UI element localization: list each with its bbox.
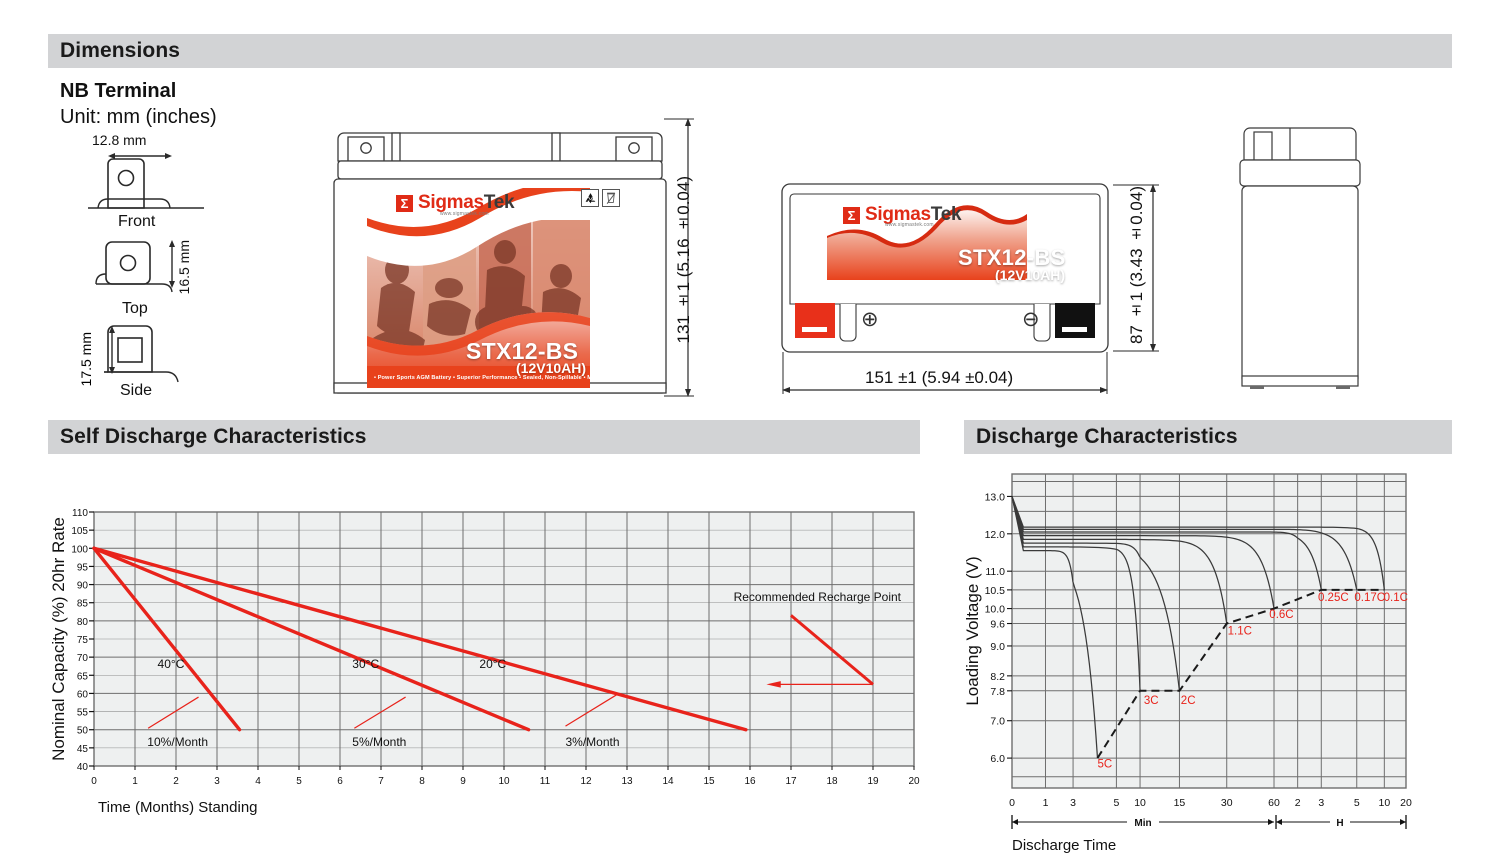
svg-text:8.2: 8.2 — [990, 671, 1005, 683]
svg-text:80: 80 — [77, 617, 89, 628]
recycle-glyph — [584, 192, 597, 205]
svg-text:Loading Voltage (V): Loading Voltage (V) — [963, 556, 982, 705]
terminal-side-view — [86, 322, 206, 388]
svg-text:10: 10 — [1134, 797, 1146, 809]
svg-text:55: 55 — [77, 708, 89, 719]
svg-text:9.0: 9.0 — [990, 641, 1005, 653]
svg-text:7.0: 7.0 — [990, 716, 1005, 728]
battery-height-label: 131 ±1 (5.16 ±0.04) — [674, 176, 694, 343]
svg-text:10%/Month: 10%/Month — [147, 735, 208, 749]
svg-text:5%/Month: 5%/Month — [352, 735, 406, 749]
svg-text:85: 85 — [77, 599, 89, 610]
svg-text:3: 3 — [1318, 797, 1324, 809]
svg-text:0: 0 — [1009, 797, 1015, 809]
svg-text:14: 14 — [662, 776, 674, 787]
svg-text:10.0: 10.0 — [985, 604, 1006, 616]
svg-text:0.17C: 0.17C — [1354, 592, 1385, 604]
brand-url-front: www.sigmastek.com — [440, 211, 489, 217]
svg-text:110: 110 — [72, 508, 88, 519]
svg-text:65: 65 — [77, 671, 89, 682]
crossed-wheelie-bin-icon — [602, 189, 620, 207]
discharge-chart: 13.012.011.010.510.09.69.08.27.87.06.05C… — [960, 460, 1460, 856]
sigma-mark-icon-side: Σ — [843, 207, 860, 224]
svg-text:60: 60 — [1268, 797, 1280, 809]
svg-text:10.5: 10.5 — [985, 585, 1006, 597]
svg-text:105: 105 — [71, 526, 88, 537]
svg-text:30: 30 — [1221, 797, 1233, 809]
svg-text:20: 20 — [908, 776, 920, 787]
svg-text:4: 4 — [255, 776, 261, 787]
terminal-height-label: 16.5 mm — [176, 240, 192, 294]
svg-text:0.1C: 0.1C — [1384, 592, 1408, 604]
terminal-height-arrow — [166, 240, 178, 288]
svg-text:70: 70 — [77, 653, 89, 664]
terminal-depth-label: 17.5 mm — [78, 332, 94, 386]
sigma-mark-icon: Σ — [396, 195, 413, 212]
wheelie-bin-glyph — [605, 192, 617, 205]
svg-text:45: 45 — [77, 744, 89, 755]
terminal-depth-arrow — [106, 326, 118, 374]
brand-name-second-side: Tek — [931, 204, 961, 226]
svg-text:11.0: 11.0 — [985, 566, 1005, 578]
svg-text:3: 3 — [1070, 797, 1076, 809]
svg-text:75: 75 — [77, 635, 89, 646]
svg-text:13.0: 13.0 — [985, 491, 1006, 503]
battery-tagline: • Power Sports AGM Battery • Superior Pe… — [374, 375, 636, 381]
svg-text:9.6: 9.6 — [990, 619, 1005, 631]
svg-text:19: 19 — [867, 776, 879, 787]
svg-text:3%/Month: 3%/Month — [566, 735, 620, 749]
svg-text:Discharge Time: Discharge Time — [1012, 837, 1116, 854]
svg-text:20: 20 — [1400, 797, 1412, 809]
svg-text:60: 60 — [77, 689, 89, 700]
negative-terminal-block — [1055, 303, 1095, 338]
self-discharge-chart: 4045505560657075808590951001051100123456… — [48, 466, 920, 826]
svg-text:H: H — [1336, 818, 1343, 829]
polarity-minus-icon: ⊖ — [1022, 309, 1040, 330]
svg-text:100: 100 — [71, 544, 88, 555]
svg-text:9: 9 — [460, 776, 466, 787]
positive-terminal-block — [795, 303, 835, 338]
svg-text:16: 16 — [744, 776, 756, 787]
svg-text:1: 1 — [132, 776, 138, 787]
svg-text:5: 5 — [1354, 797, 1360, 809]
svg-text:15: 15 — [1174, 797, 1186, 809]
battery-spec-front: (12V10AH) — [516, 360, 586, 376]
positive-terminal-bar — [802, 327, 827, 332]
section-header-dimensions: Dimensions — [48, 34, 1452, 68]
terminal-side-caption: Side — [120, 382, 152, 400]
battery-side-height-label: 87 ±1 (3.43 ±0.04) — [1127, 186, 1147, 344]
section-title-dimensions: Dimensions — [48, 39, 180, 63]
svg-text:2: 2 — [173, 776, 179, 787]
svg-text:0: 0 — [91, 776, 97, 787]
svg-text:Recommended Recharge Point: Recommended Recharge Point — [734, 590, 902, 604]
svg-text:5: 5 — [296, 776, 302, 787]
svg-text:18: 18 — [826, 776, 838, 787]
svg-text:20°C: 20°C — [479, 657, 506, 671]
svg-text:11: 11 — [540, 776, 551, 787]
battery-spec-side: (12V10AH) — [995, 267, 1065, 283]
svg-text:50: 50 — [77, 726, 89, 737]
svg-text:1: 1 — [1043, 797, 1049, 809]
battery-profile-view — [1238, 118, 1362, 396]
section-header-self-discharge: Self Discharge Characteristics — [48, 420, 920, 454]
recycle-icon — [581, 189, 599, 207]
svg-text:15: 15 — [703, 776, 715, 787]
unit-label: Unit: mm (inches) — [60, 106, 217, 129]
svg-text:3: 3 — [214, 776, 220, 787]
battery-width-label: 151 ±1 (5.94 ±0.04) — [865, 368, 1013, 388]
polarity-plus-icon: ⊕ — [861, 309, 879, 330]
svg-text:2: 2 — [1295, 797, 1301, 809]
terminal-front-caption: Front — [118, 213, 155, 231]
svg-text:6: 6 — [337, 776, 343, 787]
svg-text:10: 10 — [1378, 797, 1390, 809]
svg-text:5: 5 — [1113, 797, 1119, 809]
svg-text:Nominal Capacity (%) 20hr Rate: Nominal Capacity (%) 20hr Rate — [49, 517, 68, 761]
svg-text:7.8: 7.8 — [990, 686, 1005, 698]
section-title-self-discharge: Self Discharge Characteristics — [48, 425, 366, 449]
svg-text:95: 95 — [77, 562, 89, 573]
brand-url-side: www.sigmastek.com — [885, 222, 934, 228]
svg-text:90: 90 — [77, 581, 89, 592]
svg-text:10: 10 — [498, 776, 510, 787]
svg-text:17: 17 — [785, 776, 797, 787]
svg-text:12.0: 12.0 — [985, 529, 1006, 541]
svg-text:40: 40 — [77, 762, 89, 773]
terminal-width-label: 12.8 mm — [92, 132, 146, 148]
negative-terminal-bar — [1062, 327, 1087, 332]
svg-text:8: 8 — [419, 776, 425, 787]
svg-text:0.6C: 0.6C — [1269, 609, 1293, 621]
svg-text:2C: 2C — [1181, 695, 1196, 707]
svg-text:1.1C: 1.1C — [1228, 626, 1252, 638]
svg-text:5C: 5C — [1097, 758, 1112, 770]
terminal-top-caption: Top — [122, 300, 148, 318]
svg-text:12: 12 — [580, 776, 592, 787]
svg-text:7: 7 — [378, 776, 384, 787]
terminal-front-view — [86, 158, 206, 220]
svg-text:13: 13 — [621, 776, 633, 787]
nb-terminal-label: NB Terminal — [60, 80, 176, 103]
svg-text:3C: 3C — [1144, 695, 1159, 707]
datasheet-page: Dimensions NB Terminal Unit: mm (inches)… — [0, 0, 1500, 856]
svg-text:30°C: 30°C — [352, 657, 379, 671]
svg-text:6.0: 6.0 — [990, 753, 1005, 765]
section-title-discharge: Discharge Characteristics — [964, 425, 1238, 449]
svg-text:40°C: 40°C — [158, 657, 185, 671]
svg-text:Min: Min — [1134, 818, 1151, 829]
section-header-discharge: Discharge Characteristics — [964, 420, 1452, 454]
svg-text:0.25C: 0.25C — [1318, 592, 1349, 604]
svg-text:Time (Months) Standing: Time (Months) Standing — [98, 799, 258, 816]
